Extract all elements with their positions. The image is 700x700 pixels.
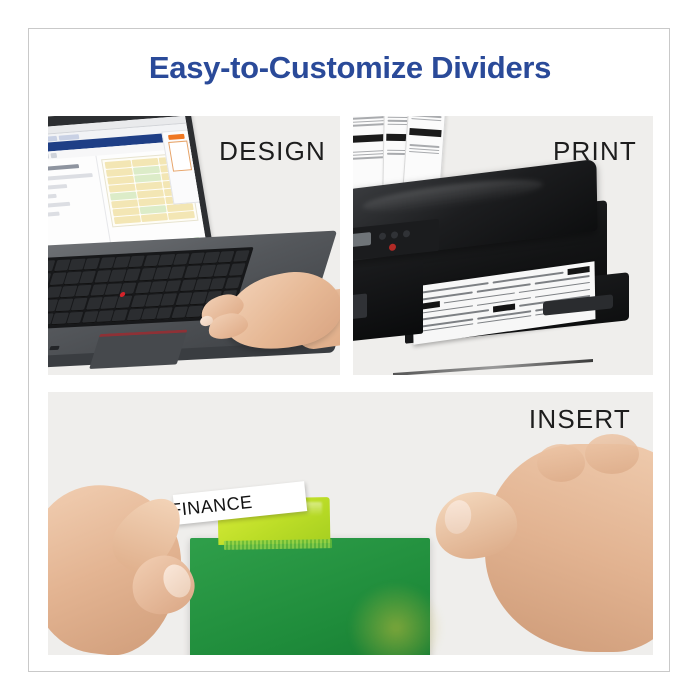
page-title: Easy-to-Customize Dividers (0, 50, 700, 86)
option-field-1[interactable] (48, 173, 93, 182)
toolbar-icon-5[interactable] (50, 153, 57, 158)
printer-card-slot[interactable] (353, 293, 367, 319)
sidebar-accent-bar (168, 134, 185, 140)
sheet-tab-mark (353, 134, 387, 143)
browser-tab-3[interactable] (58, 134, 79, 141)
laptop-port-2 (49, 346, 59, 350)
panel-label-print: PRINT (553, 136, 637, 167)
options-heading (48, 164, 80, 171)
printer-front-panel (353, 261, 423, 342)
hand-icon (48, 448, 226, 655)
panel-label-design: DESIGN (219, 136, 326, 167)
template-cell (141, 213, 168, 222)
printer-power-button[interactable] (389, 243, 396, 251)
sidebar-preview-card (168, 141, 192, 172)
printer-button-1[interactable] (379, 232, 386, 240)
printer-button-3[interactable] (403, 230, 410, 238)
product-marketing-image: Easy-to-Customize Dividers (0, 0, 700, 700)
hand-icon (439, 426, 653, 655)
finger-shadow (348, 582, 444, 655)
panel-design: DESIGN (48, 116, 340, 375)
scanner-seam (393, 359, 593, 375)
template-cell (114, 215, 141, 224)
panel-print: PRINT (353, 116, 653, 375)
right-hand-knuckle (585, 434, 639, 474)
option-field-5[interactable] (48, 212, 60, 218)
right-hand-knuckle (537, 444, 585, 482)
panel-label-insert: INSERT (529, 404, 631, 435)
printer-lcd-display (353, 232, 371, 247)
divider-tab-perforation (224, 539, 332, 550)
hand-icon (194, 266, 340, 358)
touchpad[interactable] (89, 329, 187, 368)
option-field-4[interactable] (48, 202, 70, 209)
option-field-2[interactable] (48, 184, 67, 191)
toolbar-icon-4[interactable] (48, 153, 49, 158)
template-cell (168, 211, 195, 220)
panel-insert: FINANCE INSERT (48, 392, 653, 655)
option-field-3[interactable] (48, 194, 57, 200)
printer-button-2[interactable] (391, 231, 398, 239)
sheet-tab-mark (409, 128, 441, 137)
